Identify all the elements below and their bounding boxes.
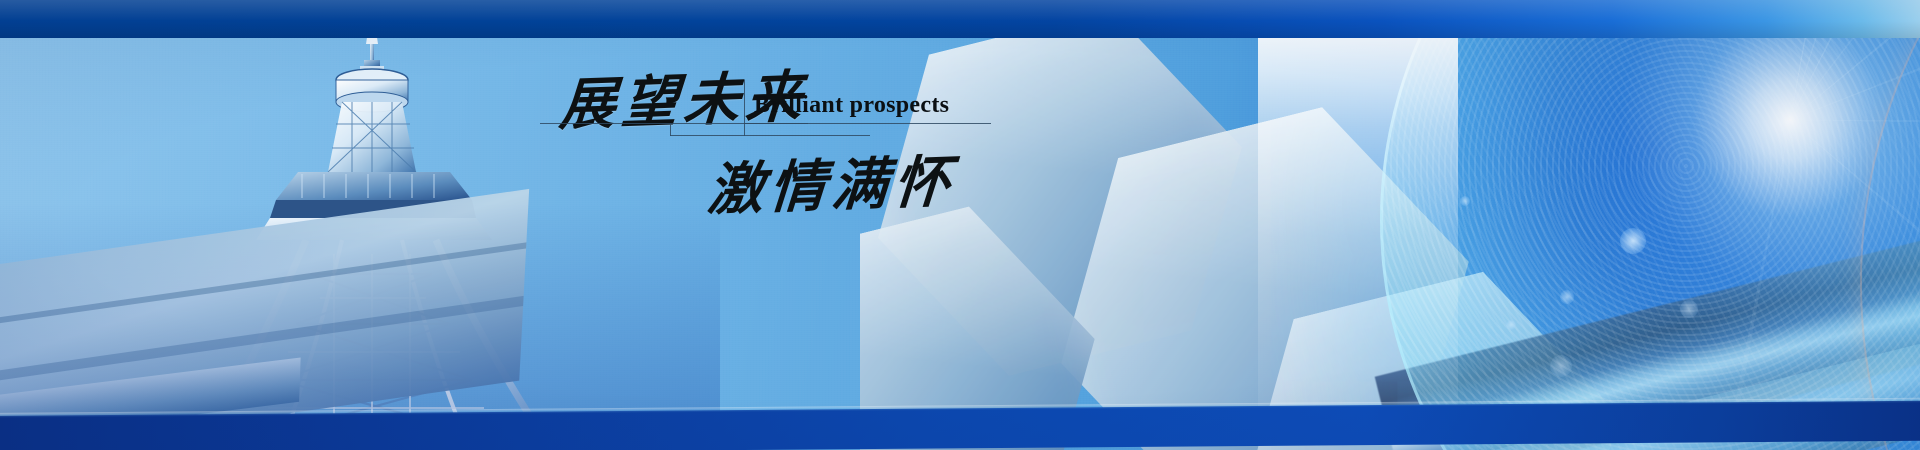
- top-color-band: [0, 0, 1920, 38]
- headline-english-tagline: Brilliant prospects: [754, 92, 949, 119]
- metallic-hexagon-scene: [860, 0, 1920, 450]
- headline-rule-middle: [670, 135, 870, 136]
- headline-rule-right: [744, 123, 991, 124]
- banner-root: 展望未来 Brilliant prospects 激情满怀: [0, 0, 1920, 450]
- headline-tick-vertical: [670, 123, 671, 136]
- headline-chinese-secondary: 激情满怀: [705, 137, 959, 227]
- headline-divider-vertical: [744, 80, 745, 136]
- headline-block: 展望未来 Brilliant prospects 激情满怀: [540, 46, 1010, 226]
